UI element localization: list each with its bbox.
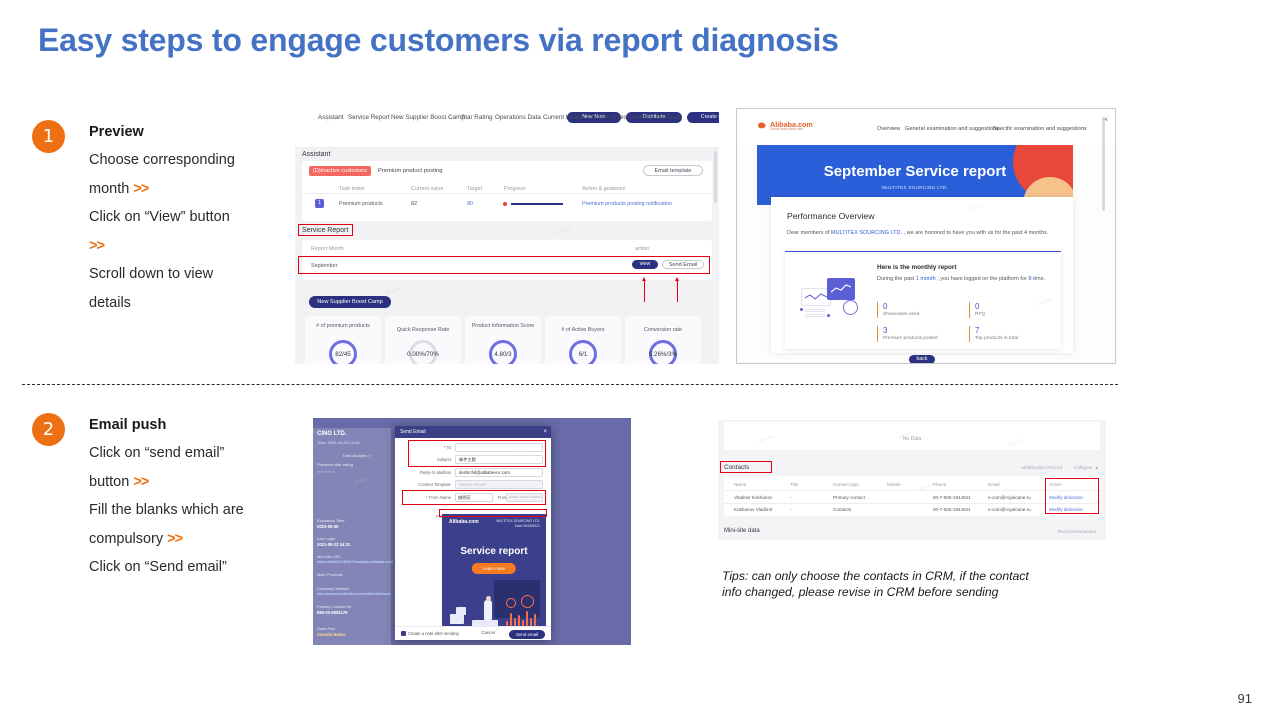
kpi-card: Product Information Score 4.80/3 xyxy=(465,316,541,364)
step-2-line-1: Click on “send email” xyxy=(89,439,300,468)
stat-label: Premium products posted xyxy=(883,335,938,342)
cell-email: e-com@royalcane.ru xyxy=(988,507,1031,512)
tab-current-usage[interactable]: Current Usage xyxy=(543,114,584,121)
bg-field-value: 880-02-8981176 xyxy=(317,610,348,615)
stat-label: RFQ xyxy=(975,311,985,318)
content-template-label: Content Template xyxy=(403,482,451,487)
monthly-body-2: , you have logged on the platform for xyxy=(936,276,1029,282)
greeting-company: MULTITEX SOURCING LTD. xyxy=(831,230,902,236)
report-row-highlight-box xyxy=(298,256,710,274)
bg-field-label: Mini-site URL xyxy=(317,554,341,559)
report-hero-subtitle: MULTITEX SOURCING LTD. xyxy=(757,185,1073,190)
assistant-scrollbar[interactable] xyxy=(714,151,717,203)
screenshot-contacts-table: No Data Contacts Modification Record Col… xyxy=(718,420,1106,540)
screenshot-service-report: Alibaba.com Global trade starts here Ove… xyxy=(736,108,1116,364)
step-2-line-5-text: Click on “Send email” xyxy=(89,559,227,575)
report-nav-specific[interactable]: Specific examination and suggestions xyxy=(993,126,1087,132)
cell-contact-type: Contacts xyxy=(833,507,851,512)
assistant-section-title: Assistant xyxy=(302,151,330,158)
step-1-body: Preview Choose corresponding month >> Cl… xyxy=(89,120,300,317)
kpi-card: Conversion rate 5.26%/3% xyxy=(625,316,701,364)
dialog-footer: Create a note after sending Cancel Send … xyxy=(395,626,551,640)
th-phone: Phone xyxy=(933,482,946,487)
col-task-index: Task index xyxy=(339,186,364,192)
cancel-button[interactable]: Cancel xyxy=(481,630,495,635)
send-email-dialog: Send Email × * To Subject 邮件主题 Reply-to … xyxy=(395,426,551,640)
stat-label: Showcases used xyxy=(883,311,919,318)
tab-contacts[interactable]: Contacts xyxy=(628,114,653,121)
section-divider xyxy=(22,384,1118,385)
step-1-line-4: >> xyxy=(89,232,300,261)
screenshot-assistant-page: New Note Distribute Create Order More As… xyxy=(295,108,719,364)
alibaba-mark-icon xyxy=(757,121,768,129)
kpi-title: Product Information Score xyxy=(465,323,541,329)
kpi-value: 0.00%/70% xyxy=(385,351,461,358)
th-name: Name xyxy=(734,482,746,487)
preview-date: Date:09/25/2021 xyxy=(496,524,540,529)
step-2-line-5: Click on “Send email” xyxy=(89,553,300,582)
th-mobile: Mobile xyxy=(887,482,901,487)
bg-field-label: Main Products xyxy=(317,572,343,577)
bg-field-value[interactable]: http://www.multitexltd.com/multitexltd.h… xyxy=(317,592,391,596)
report-greeting: Dear members of MULTITEX SOURCING LTD. ,… xyxy=(787,229,1059,237)
kpi-value: 5.26%/3% xyxy=(625,351,701,358)
task-name: Premium products xyxy=(339,201,383,207)
tab-boost-camp[interactable]: New Supplier Boost Camp xyxy=(391,114,465,121)
bg-field-label: Sales Rep xyxy=(317,626,335,631)
bg-field-label: Company Website xyxy=(317,586,350,591)
slide-root: Easy steps to engage customers via repor… xyxy=(0,0,1280,720)
task-current: 82 xyxy=(411,201,417,207)
kpi-value: 6/1 xyxy=(545,351,621,358)
tab-my-deals[interactable]: My Deals xyxy=(656,114,682,121)
step-1-heading: Preview xyxy=(89,120,300,144)
progress-bar xyxy=(511,203,563,205)
assistant-tab-bar xyxy=(295,127,719,148)
boost-camp-button[interactable]: New Supplier Boost Camp xyxy=(309,296,391,308)
preview-illustration-icon xyxy=(442,578,546,630)
send-email-submit-button[interactable]: Send email xyxy=(509,630,545,639)
task-index-badge: 1 xyxy=(315,199,324,208)
table-header-rule xyxy=(724,490,1100,491)
step-2-line-4-text: compulsory xyxy=(89,531,167,547)
report-body-panel: Performance Overview Dear members of MUL… xyxy=(771,197,1073,353)
inactive-customers-chip[interactable]: (D)inactive customers xyxy=(309,166,371,176)
monthly-body-3: -time. xyxy=(1031,276,1045,282)
stat-block: 0 RFQ xyxy=(969,302,985,318)
stat-block: 7 Top products in total xyxy=(969,326,1018,342)
stat-number: 3 xyxy=(883,326,938,335)
kpi-title: Quick Response Rate xyxy=(385,327,461,333)
close-icon[interactable]: × xyxy=(543,426,547,438)
page-title: Easy steps to engage customers via repor… xyxy=(38,22,839,59)
stat-block: 3 Premium products posted xyxy=(877,326,938,342)
kpi-value: 82/45 xyxy=(305,351,381,358)
bg-company-name: CING LTD. xyxy=(317,431,347,437)
preview-logo: Alibaba.com xyxy=(449,519,479,525)
report-hero-banner: September Service report MULTITEX SOURCI… xyxy=(757,145,1073,205)
kpi-title: # of premium products xyxy=(305,323,381,329)
preview-meta: MULTITEX SOURCING LTD. Date:09/25/2021 xyxy=(496,519,540,528)
stat-number: 7 xyxy=(975,326,1018,335)
cell-name: Kokhanov Vladimir xyxy=(734,507,772,512)
step-1-line-2: month >> xyxy=(89,175,300,204)
col-target: Target xyxy=(467,186,482,192)
modification-record-link[interactable]: Modification Record xyxy=(1021,465,1062,470)
create-note-checkbox[interactable] xyxy=(401,631,406,636)
create-order-button[interactable]: Create Order xyxy=(687,112,719,123)
step-2-line-2-text: button xyxy=(89,474,133,490)
tab-contact-notes[interactable]: Contact Notes xyxy=(587,114,627,121)
col-current-value: Current value xyxy=(411,186,443,192)
report-nav-general[interactable]: General examination and suggestions xyxy=(905,126,999,132)
step-1-line-1-text: Choose corresponding xyxy=(89,152,235,168)
greeting-suffix: , we are honored to have you with us for… xyxy=(902,230,1048,236)
kpi-card: # of premium products 82/45 xyxy=(305,316,381,364)
premium-product-posting-chip[interactable]: Premium product posting xyxy=(378,168,442,174)
step-1-line-3-text: Click on “View” button xyxy=(89,209,230,225)
tab-star-rating[interactable]: Star Rating xyxy=(461,114,493,121)
step-1-line-2-text: month xyxy=(89,181,133,197)
step-1-line-1: Choose corresponding xyxy=(89,146,300,175)
tab-service-report[interactable]: Service Report xyxy=(348,114,390,121)
preview-learn-more-button[interactable]: Learn more xyxy=(472,563,516,574)
action-column-highlight-box xyxy=(1045,478,1099,514)
step-2: 2 Email push Click on “send email” butto… xyxy=(32,413,300,582)
arrow-marker: >> xyxy=(133,474,148,490)
callout-arrow-send-email xyxy=(677,280,678,302)
email-template-button[interactable]: Email template xyxy=(643,165,703,176)
cell-phone: 00-7-925-1944911 xyxy=(933,495,970,500)
step-1: 1 Preview Choose corresponding month >> … xyxy=(32,120,300,317)
analytics-illustration-icon xyxy=(799,274,865,322)
create-note-label: Create a note after sending xyxy=(408,631,459,636)
report-scrollbar[interactable] xyxy=(1102,117,1105,211)
step-1-line-5-text: Scroll down to view xyxy=(89,266,213,282)
monthly-body-month: 1 month xyxy=(916,276,936,282)
step-1-number: 1 xyxy=(32,120,65,153)
th-contact-type: Contact type xyxy=(833,482,859,487)
replyto-field-label: Reply-to Mailbox xyxy=(403,470,451,475)
col-progress: Progress xyxy=(504,186,526,192)
monthly-body-1: During the past xyxy=(877,276,916,282)
tips-note: Tips: can only choose the contacts in CR… xyxy=(722,569,1100,600)
dialog-titlebar: Send Email × xyxy=(395,426,551,438)
step-2-line-3: Fill the blanks which are xyxy=(89,496,300,525)
col-report-month: Report Month xyxy=(311,246,344,252)
monthly-report-card: Here is the monthly report During the pa… xyxy=(785,251,1061,349)
tips-line-2: info changed, please revise in CRM befor… xyxy=(722,585,1100,601)
th-title: Title xyxy=(790,482,799,487)
monthly-report-body: During the past 1 month , you have logge… xyxy=(877,275,1063,283)
screenshot-send-email-dialog: CING LTD. Time: 2021-09-25 14:20 Data An… xyxy=(313,418,631,645)
stat-number: 0 xyxy=(883,302,919,311)
report-nav-overview[interactable]: Overview xyxy=(877,126,900,132)
recommendations-link[interactable]: Recommendations xyxy=(1058,529,1096,534)
step-1-line-6: details xyxy=(89,289,300,318)
email-preview: Alibaba.com MULTITEX SOURCING LTD. Date:… xyxy=(442,514,546,630)
to-subject-highlight-box xyxy=(408,440,546,467)
content-template-placeholder: Service Report xyxy=(459,482,487,487)
preview-company: MULTITEX SOURCING LTD. xyxy=(496,519,540,524)
stat-number: 0 xyxy=(975,302,985,311)
service-report-highlight-box xyxy=(298,224,353,236)
task-header-rule xyxy=(302,193,712,194)
mini-site-data-title: Mini-site data xyxy=(724,528,760,534)
col-action-guidance: Action & guidance xyxy=(582,186,625,192)
arrow-marker: >> xyxy=(89,238,104,254)
bg-time: Time: 2021-09-25 14:20 xyxy=(317,440,360,445)
arrow-marker: >> xyxy=(167,531,182,547)
stat-block: 0 Showcases used xyxy=(877,302,919,318)
bg-data-analysis-link[interactable]: Data Analysis > xyxy=(343,453,371,458)
cell-phone: 00-7-925-1944911 xyxy=(933,507,970,512)
kpi-title: # of Active Buyers xyxy=(545,327,621,333)
tab-operations-data[interactable]: Operations Data xyxy=(495,114,541,121)
bg-predicted-rating-label: Predicted star rating xyxy=(317,462,353,467)
kpi-card: Quick Response Rate 0.00%/70% xyxy=(385,316,461,364)
monthly-report-title: Here is the monthly report xyxy=(877,264,957,271)
page-number: 91 xyxy=(1238,691,1252,706)
dialog-title: Send Email xyxy=(400,429,426,435)
tab-assistant[interactable]: Assistant xyxy=(318,114,344,121)
cell-title: - xyxy=(790,507,792,512)
bg-field-value: 2023-05-06 xyxy=(317,524,338,529)
stat-label: Top products in total xyxy=(975,335,1018,342)
background-right-strip xyxy=(551,418,631,645)
bg-star-rating: ☆☆☆☆☆ xyxy=(317,469,335,474)
collapse-link[interactable]: Collapse xyxy=(1074,465,1092,470)
alibaba-logo-tagline: Global trade starts here xyxy=(770,127,803,131)
step-2-body: Email push Click on “send email” button … xyxy=(89,413,300,582)
contacts-table-card xyxy=(724,476,1100,516)
bg-field-label: Primary Contact Nr xyxy=(317,604,351,609)
bg-field-value: 2021-08-22 04:31 xyxy=(317,542,350,547)
kpi-value: 4.80/3 xyxy=(465,351,541,358)
performance-overview-title: Performance Overview xyxy=(787,211,874,221)
step-1-line-3: Click on “View” button xyxy=(89,203,300,232)
kpi-card: # of Active Buyers 6/1 xyxy=(545,316,621,364)
tips-line-1: Tips: can only choose the contacts in CR… xyxy=(722,569,1100,585)
bg-field-label: Expiration Time xyxy=(317,518,345,523)
preview-title: Service report xyxy=(442,546,546,557)
cell-title: - xyxy=(790,495,792,500)
cell-contact-type: Primary contact xyxy=(833,495,865,500)
step-2-number: 2 xyxy=(32,413,65,446)
chevron-up-icon[interactable]: ▲ xyxy=(1094,465,1099,470)
from-fields-highlight-box xyxy=(402,490,546,505)
cell-email: e-com@royalcane.ru xyxy=(988,495,1031,500)
back-button[interactable]: back xyxy=(909,355,935,364)
step-2-line-4: compulsory >> xyxy=(89,525,300,554)
replyto-field-value: deshrchd@alibaba-inc.com xyxy=(459,470,510,475)
table-row-rule xyxy=(724,503,1100,504)
th-email: Email xyxy=(988,482,1000,487)
step-1-line-6-text: details xyxy=(89,295,131,311)
progress-status-dot xyxy=(503,202,507,206)
bg-field-label: Last Login xyxy=(317,536,335,541)
create-order-label: Create Order xyxy=(701,114,719,120)
contacts-title-highlight-box xyxy=(720,461,772,473)
kpi-title: Conversion rate xyxy=(625,327,701,333)
callout-arrow-view xyxy=(644,280,645,302)
no-data-label: No Data xyxy=(724,436,1100,442)
step-2-line-2: button >> xyxy=(89,468,300,497)
no-data-card: No Data xyxy=(724,422,1100,450)
arrow-marker: >> xyxy=(133,181,148,197)
step-1-line-5: Scroll down to view xyxy=(89,260,300,289)
report-hero-title: September Service report xyxy=(757,163,1073,180)
task-target: 90 xyxy=(467,201,473,207)
preview-top-highlight-box xyxy=(439,509,547,517)
task-action-link[interactable]: Premium products posting notification xyxy=(582,201,672,207)
step-2-line-1-text: Click on “send email” xyxy=(89,445,224,461)
greeting-prefix: Dear members of xyxy=(787,230,831,236)
bg-field-value[interactable]: https://bd3216738357.trustpass.alibaba.c… xyxy=(317,560,393,564)
step-2-heading: Email push xyxy=(89,413,300,437)
bg-field-value: Satoshi Nakao xyxy=(317,632,346,637)
step-2-line-3-text: Fill the blanks which are xyxy=(89,502,244,518)
cell-name: Vladimir Kokhanov xyxy=(734,495,772,500)
col-report-action: action xyxy=(635,246,649,252)
